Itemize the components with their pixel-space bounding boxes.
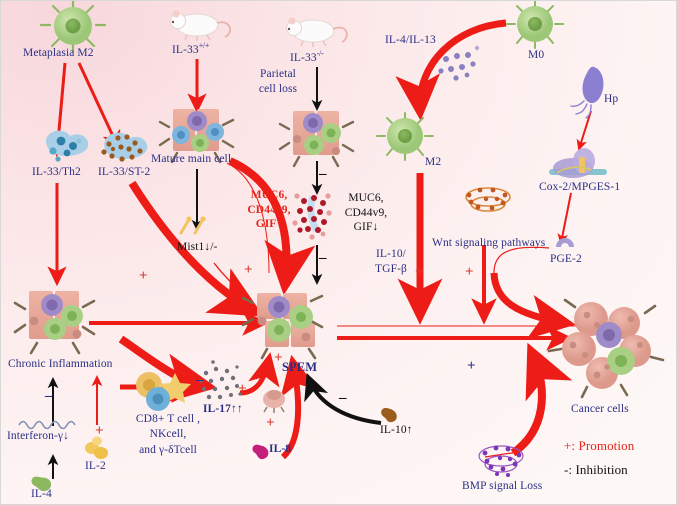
squiggle-icon: [19, 422, 75, 429]
edge-metaplasia-to-st2: [79, 63, 118, 147]
label-il33-wt-text: IL-33: [172, 44, 199, 56]
cytokine-dots-purple-icon: [438, 46, 479, 81]
label-il10-tgfb: IL-10/TGF-β: [367, 247, 415, 277]
label-chronic-inflammation: Chronic Inflammation: [8, 358, 113, 371]
wnt-spiral-icon: [466, 188, 510, 211]
sign-plus-3: +: [274, 351, 283, 366]
sign-minus-2: –: [319, 251, 327, 266]
sign-plus-2: +: [244, 263, 253, 278]
tcell-cluster-icon: [136, 372, 191, 411]
blob-brown-icon: [381, 408, 397, 422]
label-tcells: CD8+ T cell ,NKcell,and γ-δTcell: [117, 412, 219, 458]
cell-blue-brown-dots-icon: [101, 133, 147, 162]
label-il10-up: IL-10↑: [380, 424, 413, 437]
sign-minus-3: –: [339, 391, 347, 406]
sign-plus-7: +: [238, 382, 247, 397]
edge-metaplasia-to-th2: [57, 63, 65, 153]
enzyme-membrane-icon: [549, 148, 607, 178]
edge-thin-diag-mist1: [214, 263, 244, 294]
edge-hp-to-cox2: [579, 111, 591, 149]
label-m2: M2: [425, 156, 441, 169]
label-il33-st2: IL-33/ST-2: [98, 166, 150, 179]
label-il17: IL-17↑↑: [203, 403, 243, 416]
edge-pge2-to-cancer: [494, 273, 566, 323]
label-wnt: Wnt signaling pathways: [432, 237, 545, 250]
label-il8: IL-8: [269, 443, 291, 456]
label-il33-wt: IL-33+/+: [172, 41, 209, 57]
bacterium-purple-icon: [571, 67, 604, 118]
blob-yellow-icon: [85, 437, 108, 460]
rod-yellow-icon: [181, 216, 206, 233]
sign-plus-8: +: [266, 416, 275, 431]
macrophage-green-icon-m0: [507, 1, 563, 48]
spem-feeder-cell-icon: [263, 390, 285, 413]
sign-plus-9: +: [467, 359, 476, 374]
label-bmp-loss: BMP signal Loss: [462, 480, 542, 493]
label-il33-ko-sup: -/-: [317, 49, 324, 58]
label-m0: M0: [528, 49, 544, 62]
label-cancer-cells: Cancer cells: [571, 403, 629, 416]
legend-promotion: +: Promotion: [564, 438, 634, 453]
edge-bmp-to-cancer: [513, 353, 542, 453]
mouse-icon-ko: [287, 17, 347, 47]
blob-magenta-icon: [252, 445, 268, 459]
label-il4-il13: IL-4/IL-13: [385, 34, 436, 47]
label-hp: Hp: [604, 93, 618, 106]
edge-chronic-to-tcells: [121, 339, 206, 386]
macrophage-green-icon-metaplasia: [41, 1, 105, 51]
gland-cells-icon-chronic: [15, 291, 94, 353]
mouse-icon-wt: [171, 10, 231, 41]
label-metaplasia-m2: Metaplasia M2: [23, 47, 94, 60]
pathway-diagram-canvas: Metaplasia M2 IL-33/Th2 IL-33/ST-2 IL-33…: [0, 0, 677, 505]
label-il33-wt-sup: +/+: [199, 41, 209, 50]
label-il33-ko-text: IL-33: [290, 52, 317, 64]
label-mist1: Mist1↓/-: [177, 241, 217, 254]
edge-cox2-to-pge2: [561, 193, 571, 243]
sign-minus-5: –: [196, 373, 204, 388]
cytokine-dots-grey-icon: [199, 360, 241, 399]
label-interferon: Interferon-γ↓: [7, 430, 69, 443]
macrophage-green-icon-m2: [377, 113, 433, 160]
label-muc6-down: MUC6,CD44v9,GIF↓: [335, 191, 397, 235]
label-pge2: PGE-2: [550, 253, 582, 266]
label-mature-main-cell: Mature main cell: [151, 153, 231, 166]
sign-plus-5: +: [465, 265, 474, 280]
edge-bmp-thin: [485, 453, 513, 457]
sign-plus-1: +: [139, 269, 148, 284]
label-il4: IL-4: [31, 488, 52, 501]
label-il33-th2: IL-33/Th2: [32, 166, 81, 179]
label-parietal-cell-loss: Parietalcell loss: [249, 67, 307, 97]
label-muc6-up: MUC6,CD44v9,GIF↑: [238, 188, 300, 232]
gland-cells-icon-spem: [243, 293, 322, 358]
legend-inhibition: -: Inhibition: [564, 462, 628, 477]
label-il33-ko: IL-33-/-: [290, 49, 323, 65]
tumor-cluster-icon: [549, 300, 663, 397]
label-spem: SPEM: [282, 360, 317, 375]
receptor-arch-icon: [556, 238, 574, 247]
sign-minus-4: –: [45, 389, 53, 404]
gland-cells-icon-parietal: [280, 111, 353, 166]
sign-plus-4: +: [415, 265, 424, 280]
edge-pge2-to-cancer-thin: [494, 247, 549, 277]
sign-minus-1: –: [319, 167, 327, 182]
cell-blue-dots-icon: [46, 131, 88, 162]
sign-plus-6: +: [95, 424, 104, 439]
bmp-dots-icon: [479, 446, 523, 477]
label-il2: IL-2: [85, 460, 106, 473]
label-cox2: Cox-2/MPGES-1: [539, 181, 620, 194]
